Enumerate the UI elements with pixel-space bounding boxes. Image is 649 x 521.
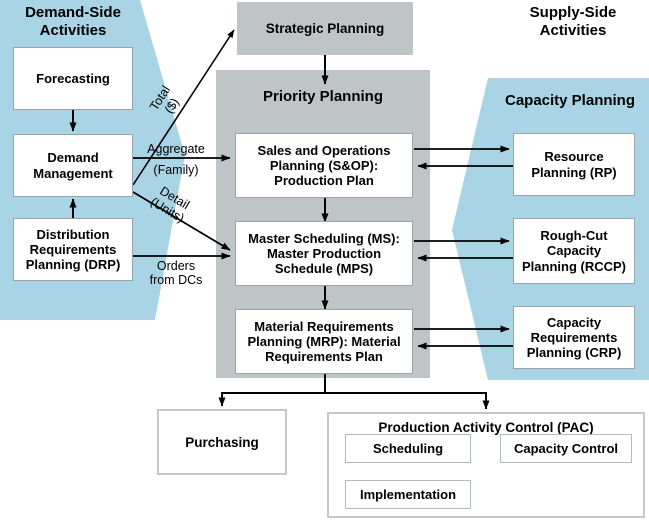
box-capacity-control-label: Capacity Control <box>514 441 618 456</box>
edge-label-aggregate-unit: (Family) <box>137 163 215 177</box>
pac-title: Production Activity Control (PAC) <box>329 420 643 435</box>
box-drp-label-line1: Distribution <box>37 227 110 242</box>
mpc-diagram: Demand-Side Activities Forecasting Deman… <box>0 0 649 521</box>
box-sop-label-line3: Production Plan <box>274 173 374 188</box>
edge-label-aggregate-line2: (Family) <box>137 163 215 177</box>
capacity-planning-title: Capacity Planning <box>495 92 645 109</box>
demand-side-title: Demand-Side Activities <box>8 4 138 39</box>
box-master-scheduling-label-line1: Master Scheduling (MS): <box>248 231 400 246</box>
box-purchasing[interactable]: Purchasing <box>157 409 287 475</box>
box-implementation-label: Implementation <box>360 487 456 502</box>
priority-planning-title: Priority Planning <box>216 88 430 105</box>
box-scheduling[interactable]: Scheduling <box>345 434 471 463</box>
box-crp-label-line3: Planning (CRP) <box>527 345 622 360</box>
box-crp[interactable]: Capacity Requirements Planning (CRP) <box>513 306 635 369</box>
arrow-mrp-to-pac <box>325 393 486 409</box>
strategic-planning-label: Strategic Planning <box>266 21 385 37</box>
box-resource-planning[interactable]: Resource Planning (RP) <box>513 133 635 196</box>
demand-side-title-line1: Demand-Side <box>8 4 138 22</box>
box-forecasting[interactable]: Forecasting <box>13 47 133 110</box>
priority-planning-title-label: Priority Planning <box>263 88 383 105</box>
box-sop-label-line2: Planning (S&OP): <box>270 158 378 173</box>
demand-side-title-line2: Activities <box>8 22 138 40</box>
pac-title-label: Production Activity Control (PAC) <box>378 420 593 435</box>
box-sop[interactable]: Sales and Operations Planning (S&OP): Pr… <box>235 133 413 198</box>
edge-label-aggregate: Aggregate <box>137 142 215 156</box>
box-rccp-label-line3: Planning (RCCP) <box>522 259 626 274</box>
edge-label-orders-line1: Orders <box>136 259 216 273</box>
box-master-scheduling[interactable]: Master Scheduling (MS): Master Productio… <box>235 221 413 286</box>
box-mrp-label-line2: Planning (MRP): Material <box>247 334 400 349</box>
box-mrp[interactable]: Material Requirements Planning (MRP): Ma… <box>235 309 413 374</box>
box-resource-planning-label-line2: Planning (RP) <box>531 165 616 180</box>
box-scheduling-label: Scheduling <box>373 441 443 456</box>
box-mrp-label-line3: Requirements Plan <box>265 349 383 364</box>
box-resource-planning-label-line1: Resource <box>544 149 603 164</box>
box-demand-management[interactable]: Demand Management <box>13 134 133 197</box>
box-crp-label-line1: Capacity <box>547 315 601 330</box>
supply-side-title: Supply-Side Activities <box>508 4 638 39</box>
box-drp-label-line3: Planning (DRP) <box>26 257 121 272</box>
box-drp-label-line2: Requirements <box>30 242 117 257</box>
box-demand-management-label-line1: Demand <box>47 150 98 165</box>
box-master-scheduling-label-line3: Schedule (MPS) <box>275 261 373 276</box>
edge-label-aggregate-line1: Aggregate <box>137 142 215 156</box>
box-sop-label-line1: Sales and Operations <box>258 143 391 158</box>
edge-label-orders: Orders from DCs <box>136 259 216 288</box>
box-drp[interactable]: Distribution Requirements Planning (DRP) <box>13 218 133 281</box>
box-mrp-label-line1: Material Requirements <box>254 319 393 334</box>
box-forecasting-label: Forecasting <box>36 71 110 86</box>
box-demand-management-label-line2: Management <box>33 166 112 181</box>
box-implementation[interactable]: Implementation <box>345 480 471 509</box>
box-rccp[interactable]: Rough-Cut Capacity Planning (RCCP) <box>513 218 635 284</box>
edge-label-orders-line2: from DCs <box>136 273 216 287</box>
panel-strategic-planning[interactable]: Strategic Planning <box>237 2 413 55</box>
supply-side-title-line1: Supply-Side <box>508 4 638 22</box>
capacity-planning-title-label: Capacity Planning <box>505 92 635 109</box>
supply-side-title-line2: Activities <box>508 22 638 40</box>
box-rccp-label-line2: Capacity <box>547 243 601 258</box>
box-rccp-label-line1: Rough-Cut <box>540 228 607 243</box>
box-crp-label-line2: Requirements <box>531 330 618 345</box>
box-master-scheduling-label-line2: Master Production <box>267 246 381 261</box>
box-purchasing-label: Purchasing <box>185 435 259 450</box>
box-capacity-control[interactable]: Capacity Control <box>500 434 632 463</box>
